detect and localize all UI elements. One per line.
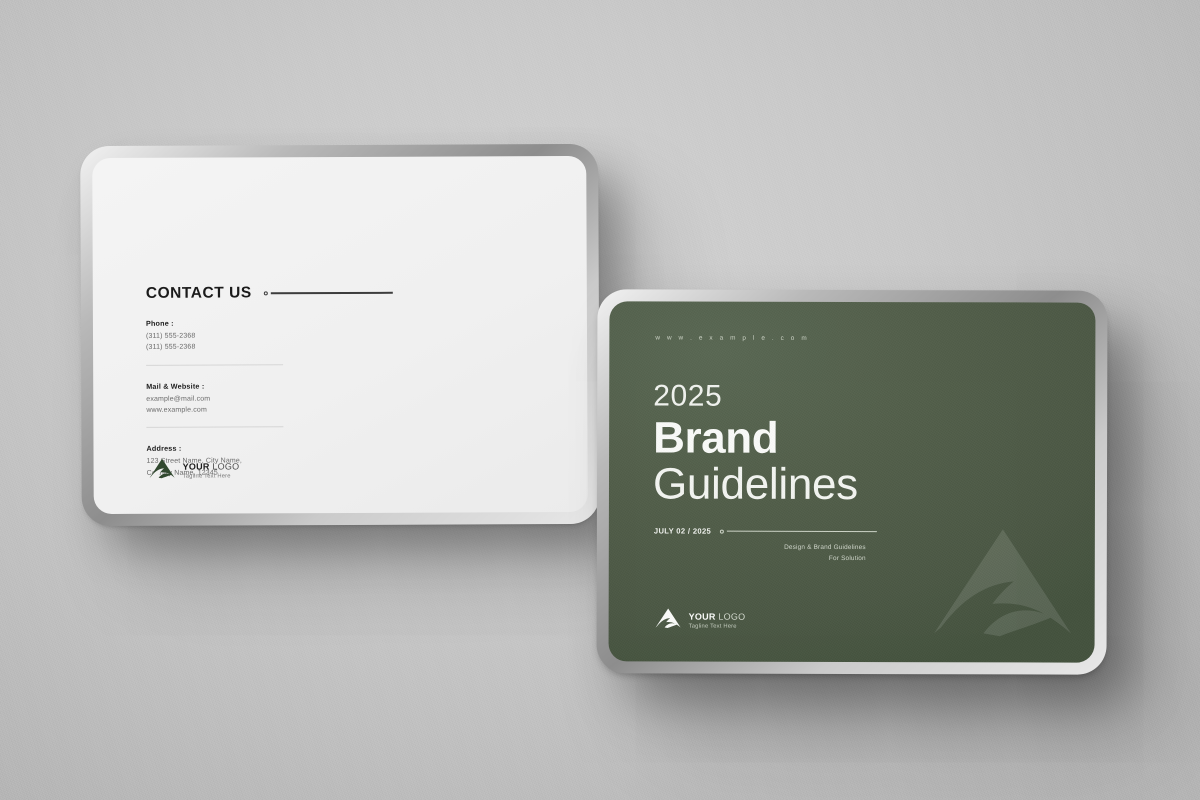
cover-page-screen: w w w . e x a m p l e . c o m 2025 Brand… bbox=[609, 301, 1096, 662]
page-title: CONTACT US bbox=[146, 284, 252, 302]
cover-title-bold: Brand bbox=[653, 415, 983, 462]
field-label: Address : bbox=[146, 443, 446, 453]
tablet-device-cover[interactable]: w w w . e x a m p l e . c o m 2025 Brand… bbox=[600, 292, 1105, 671]
heading-rule bbox=[264, 291, 446, 296]
contact-page-screen: CONTACT US Phone : (311) 555-2368 (311) … bbox=[92, 156, 588, 514]
tablet-device-contact[interactable]: CONTACT US Phone : (311) 555-2368 (311) … bbox=[83, 147, 597, 523]
contact-field-mail-website: Mail & Website : example@mail.com www.ex… bbox=[146, 380, 446, 428]
rule-dot-icon bbox=[264, 291, 268, 295]
cover-subtitle-line-1: Design & Brand Guidelines bbox=[759, 542, 866, 553]
rule-dot-icon bbox=[720, 529, 724, 533]
brand-logo-name: YOUR LOGO bbox=[689, 612, 746, 622]
contact-field-phone: Phone : (311) 555-2368 (311) 555-2368 bbox=[146, 318, 446, 366]
brand-logo-name-bold: YOUR bbox=[689, 612, 716, 622]
brand-logo-text-block: YOUR LOGO Tagline Text Here bbox=[689, 612, 746, 629]
brand-mark-icon bbox=[655, 607, 682, 633]
rule-line bbox=[727, 531, 877, 533]
cover-title-light: Guidelines bbox=[653, 461, 983, 508]
cover-heading: 2025 Brand Guidelines bbox=[653, 381, 983, 507]
brand-logo-name-light: LOGO bbox=[210, 462, 240, 472]
brand-watermark-icon bbox=[929, 517, 1077, 650]
field-separator bbox=[146, 364, 283, 366]
rule-line bbox=[271, 292, 393, 294]
date-rule bbox=[720, 529, 877, 533]
cover-subtitle: Design & Brand Guidelines For Solution bbox=[759, 542, 866, 565]
field-value: (311) 555-2368 bbox=[146, 341, 446, 354]
cover-date-row: JULY 02 / 2025 bbox=[654, 526, 869, 536]
cover-subtitle-line-2: For Solution bbox=[759, 553, 866, 564]
brand-logo-tagline: Tagline Text Here bbox=[183, 473, 240, 479]
field-label: Phone : bbox=[146, 318, 446, 328]
brand-logo-name-light: LOGO bbox=[716, 612, 746, 622]
brand-logo-name-bold: YOUR bbox=[183, 462, 210, 472]
brand-logo-text-block: YOUR LOGO Tagline Text Here bbox=[183, 462, 240, 480]
contact-heading-row: CONTACT US bbox=[146, 284, 446, 303]
brand-logo-name: YOUR LOGO bbox=[183, 462, 240, 473]
field-label: Mail & Website : bbox=[146, 380, 446, 390]
brand-logo-lockup: YOUR LOGO Tagline Text Here bbox=[655, 607, 746, 633]
field-value: www.example.com bbox=[146, 404, 446, 417]
brand-logo-tagline: Tagline Text Here bbox=[689, 623, 746, 629]
field-separator bbox=[146, 427, 283, 429]
contact-content: CONTACT US Phone : (311) 555-2368 (311) … bbox=[146, 284, 447, 479]
cover-date: JULY 02 / 2025 bbox=[654, 526, 711, 535]
cover-year: 2025 bbox=[653, 381, 983, 412]
website-url: w w w . e x a m p l e . c o m bbox=[655, 334, 809, 341]
brand-logo-lockup: YOUR LOGO Tagline Text Here bbox=[149, 457, 240, 483]
brand-mark-icon bbox=[149, 458, 176, 484]
